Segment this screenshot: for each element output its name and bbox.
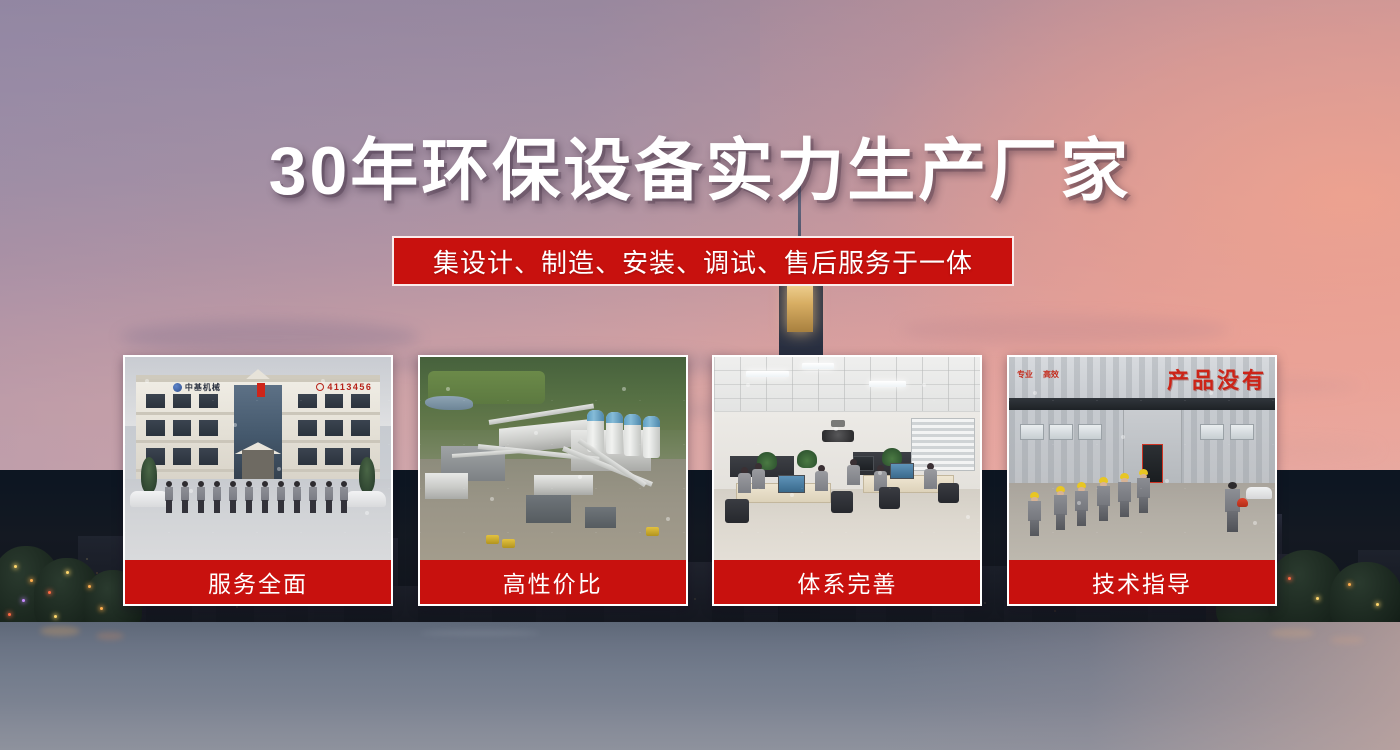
feature-card-service[interactable]: 中基机械 4113456 xyxy=(123,355,393,606)
feature-card-caption: 体系完善 xyxy=(714,560,980,604)
office-interior-photo xyxy=(714,357,980,560)
river-water xyxy=(0,622,1400,750)
feature-card-system[interactable]: 体系完善 xyxy=(712,355,982,606)
workshop-training-photo: 产品没有 专业 高效 xyxy=(1009,357,1275,560)
building-phone: 4113456 xyxy=(316,381,372,393)
factory-slogan-text: 产品没有 xyxy=(1167,363,1267,393)
company-logo-icon xyxy=(173,383,182,392)
feature-card-value[interactable]: 高性价比 xyxy=(418,355,688,606)
factory-sub-slogans: 专业 高效 xyxy=(1017,369,1129,397)
building-phone-text: 4113456 xyxy=(327,382,372,392)
feature-card-caption: 高性价比 xyxy=(420,560,686,604)
parked-car xyxy=(1246,487,1272,499)
subtitle-text: 集设计、制造、安装、调试、售后服务于一体 xyxy=(433,243,973,280)
page-title: 30年环保设备实力生产厂家 xyxy=(0,133,1400,209)
factory-sub-slogan-1: 专业 xyxy=(1017,369,1033,397)
hero-banner: 30年环保设备实力生产厂家 集设计、制造、安装、调试、售后服务于一体 xyxy=(0,0,1400,750)
phone-icon xyxy=(316,383,324,391)
factory-sub-slogan-2: 高效 xyxy=(1043,369,1059,397)
subtitle-banner: 集设计、制造、安装、调试、售后服务于一体 xyxy=(392,236,1014,286)
building-sign: 中基机械 xyxy=(173,381,253,393)
feature-card-training[interactable]: 产品没有 专业 高效 xyxy=(1007,355,1277,606)
tower-crown-light xyxy=(787,280,813,332)
aerial-production-plant-photo xyxy=(420,357,686,560)
feature-card-caption: 技术指导 xyxy=(1009,560,1275,604)
wall-decal xyxy=(818,420,858,446)
company-headquarters-building-photo: 中基机械 4113456 xyxy=(125,357,391,560)
feature-card-caption: 服务全面 xyxy=(125,560,391,604)
window-blinds xyxy=(911,418,975,471)
building-sign-text: 中基机械 xyxy=(185,382,221,393)
feature-card-list: 中基机械 4113456 xyxy=(123,355,1277,606)
red-helmet-icon xyxy=(1237,498,1248,507)
